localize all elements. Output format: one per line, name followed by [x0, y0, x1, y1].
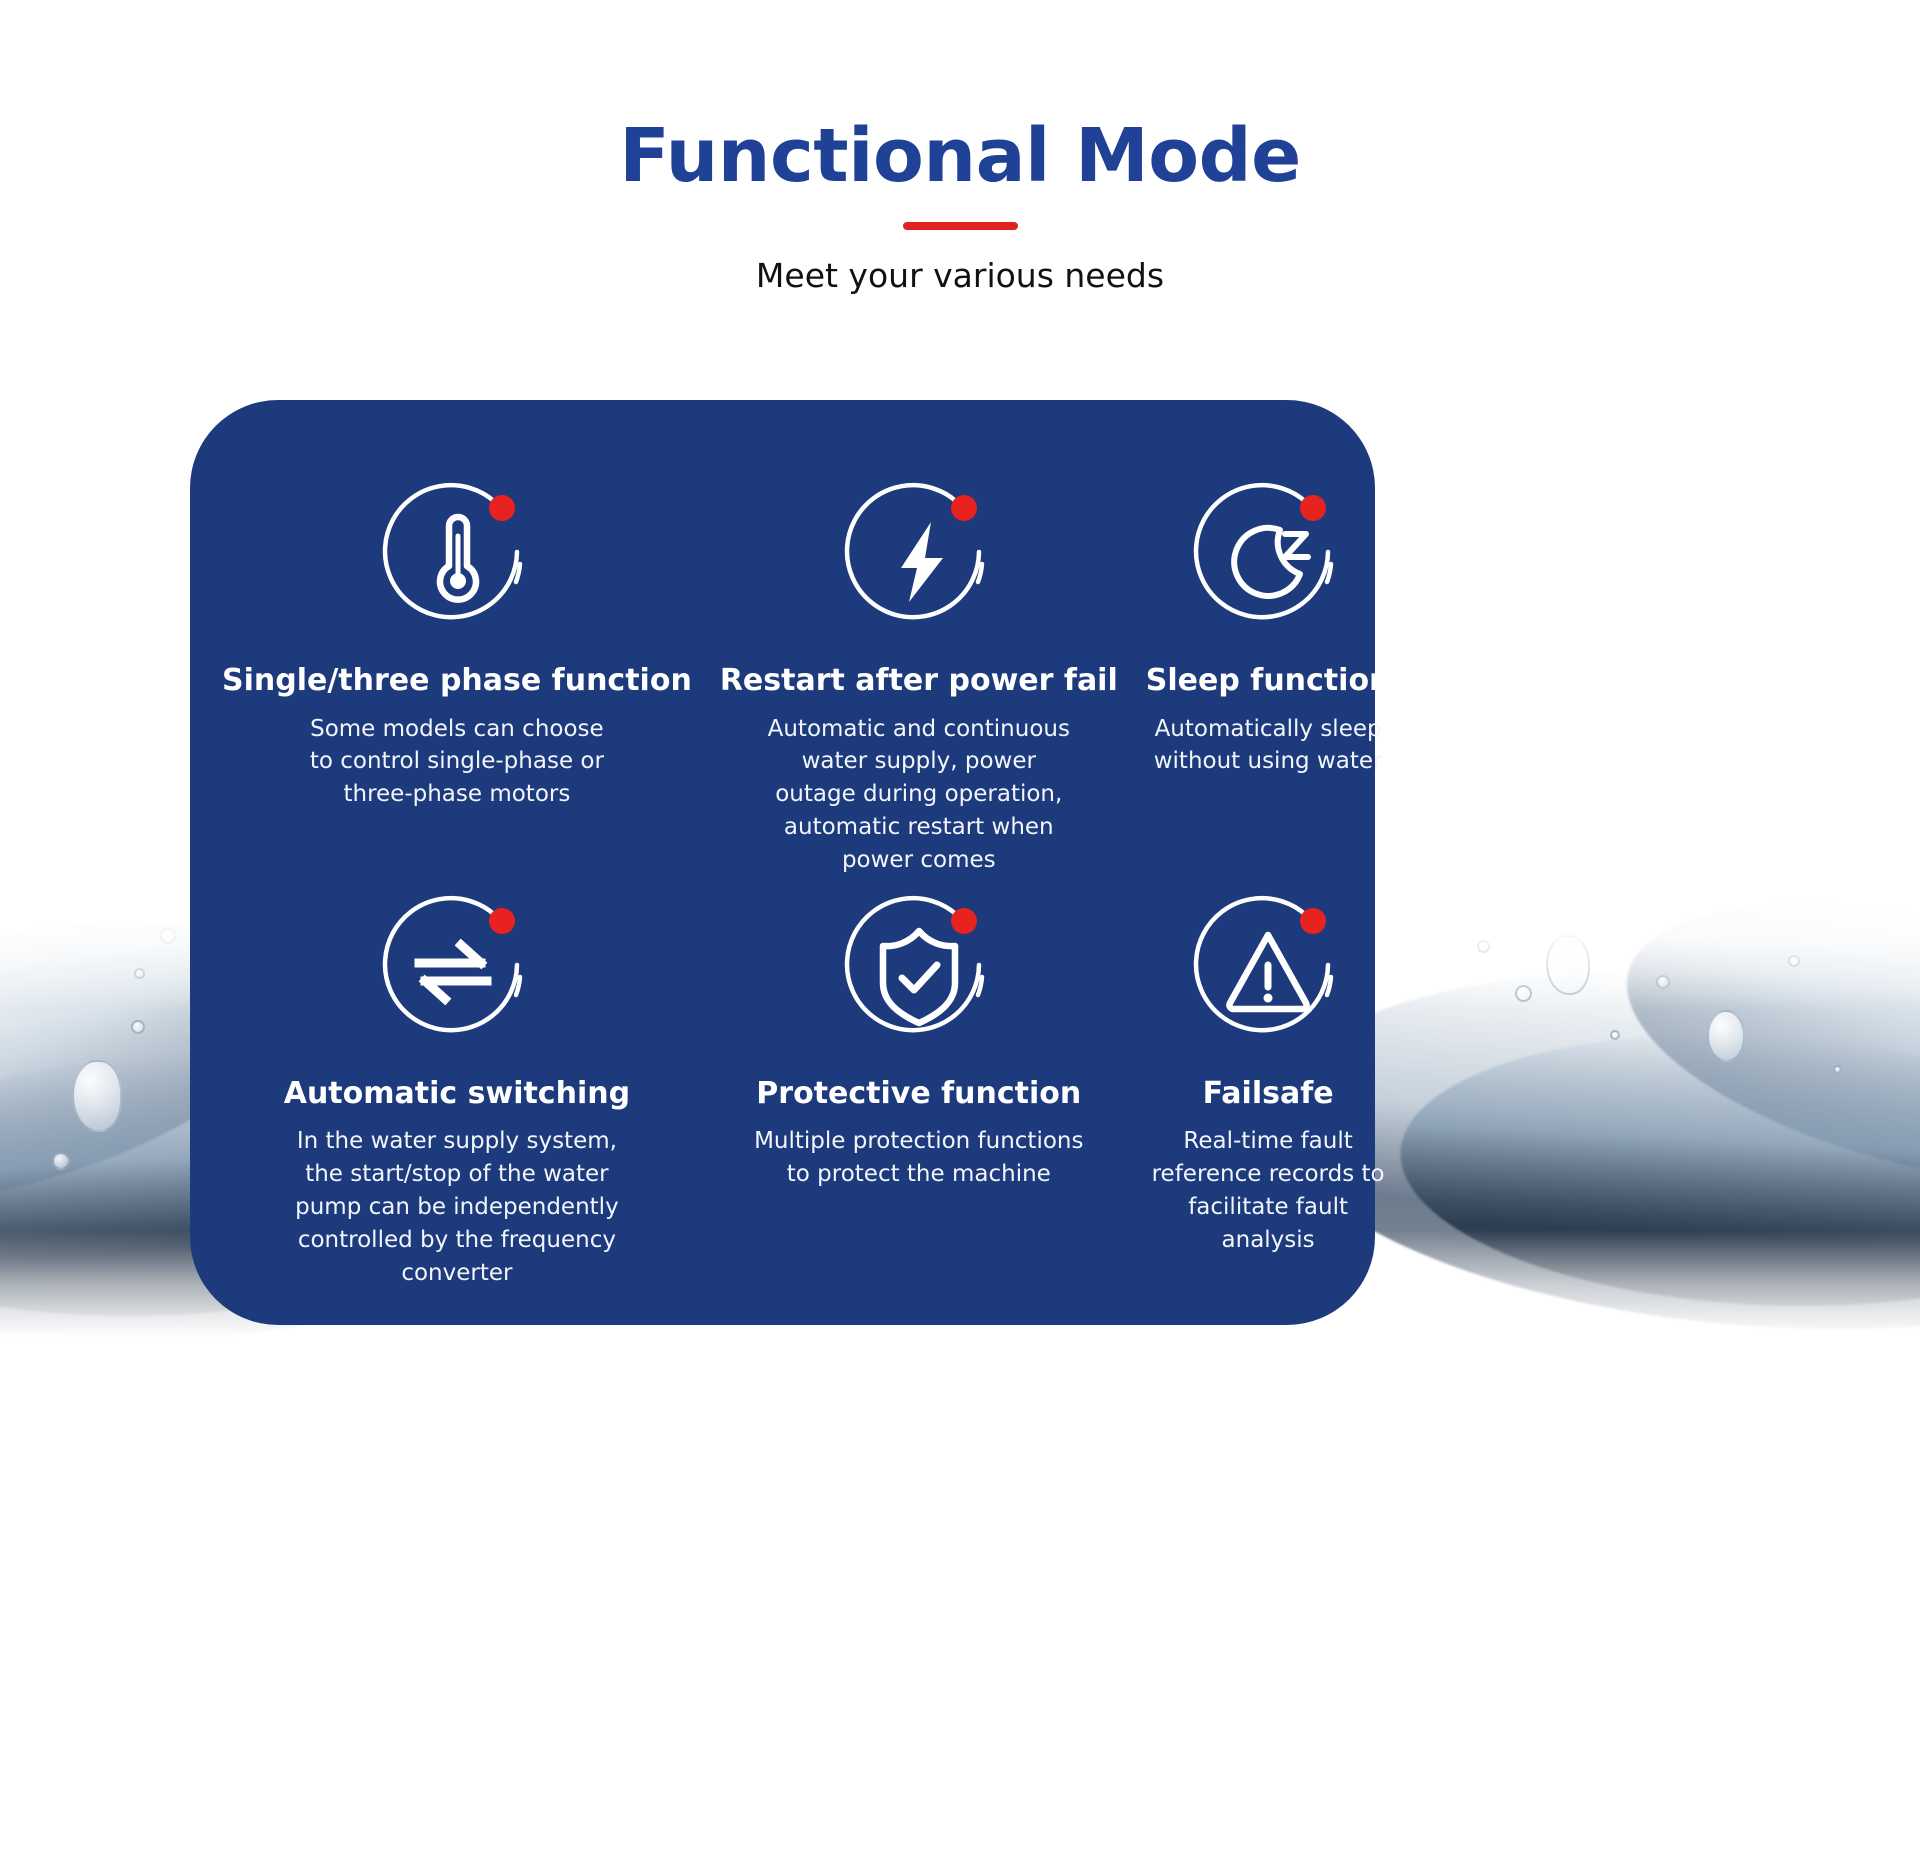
- warning-triangle-icon: [1188, 891, 1348, 1051]
- water-bubble: [1515, 985, 1532, 1002]
- feature-body: Automatically sleep without using water: [1146, 713, 1391, 779]
- water-bubble: [52, 1152, 70, 1170]
- feature-title: Sleep function: [1146, 664, 1391, 699]
- page-subtitle: Meet your various needs: [0, 256, 1920, 295]
- feature-card-protective-function[interactable]: Protective function Multiple protection …: [706, 877, 1132, 1290]
- feature-panel: Single/three phase function Some models …: [190, 400, 1375, 1325]
- feature-body: Some models can choose to control single…: [302, 713, 612, 812]
- water-droplet: [1707, 1010, 1745, 1062]
- feature-body: Real-time fault reference records to fac…: [1146, 1125, 1391, 1257]
- feature-body: Automatic and continuous water supply, p…: [759, 713, 1079, 877]
- water-wave-right-back: [1600, 880, 1920, 1239]
- feature-body: Multiple protection functions to protect…: [749, 1125, 1089, 1191]
- bidirectional-arrows-icon: [377, 891, 537, 1051]
- feature-title: Failsafe: [1203, 1077, 1334, 1112]
- water-droplet: [72, 1060, 122, 1132]
- feature-card-sleep-function[interactable]: Sleep function Automatically sleep witho…: [1132, 478, 1405, 877]
- water-bubble: [1477, 940, 1490, 953]
- water-bubble: [134, 968, 145, 979]
- water-droplet: [1546, 935, 1590, 995]
- feature-card-single-three-phase[interactable]: Single/three phase function Some models …: [208, 478, 706, 877]
- feature-title: Automatic switching: [284, 1077, 630, 1112]
- feature-grid: Single/three phase function Some models …: [190, 400, 1375, 1325]
- shield-check-icon: [839, 891, 999, 1051]
- water-bubble: [1788, 955, 1800, 967]
- water-bubble: [131, 1020, 145, 1034]
- feature-card-restart-after-power-fail[interactable]: Restart after power fail Automatic and c…: [706, 478, 1132, 877]
- water-bubble: [1610, 1030, 1620, 1040]
- feature-card-failsafe[interactable]: Failsafe Real-time fault reference recor…: [1132, 877, 1405, 1290]
- feature-title: Restart after power fail: [720, 664, 1118, 699]
- feature-title: Protective function: [756, 1077, 1081, 1112]
- lightning-bolt-icon: [839, 478, 999, 638]
- page-header: Functional Mode Meet your various needs: [0, 0, 1920, 295]
- feature-card-automatic-switching[interactable]: Automatic switching In the water supply …: [208, 877, 706, 1290]
- water-wave-right-front: [1393, 1016, 1920, 1323]
- title-underline-rule: [903, 222, 1018, 230]
- sleep-moon-z-icon: [1188, 478, 1348, 638]
- page-title: Functional Mode: [0, 118, 1920, 196]
- water-bubble: [1656, 975, 1670, 989]
- water-bubble: [160, 928, 176, 944]
- thermometer-icon: [377, 478, 537, 638]
- feature-title: Single/three phase function: [222, 664, 692, 699]
- water-bubble: [1833, 1065, 1842, 1074]
- feature-body: In the water supply system, the start/st…: [284, 1125, 629, 1289]
